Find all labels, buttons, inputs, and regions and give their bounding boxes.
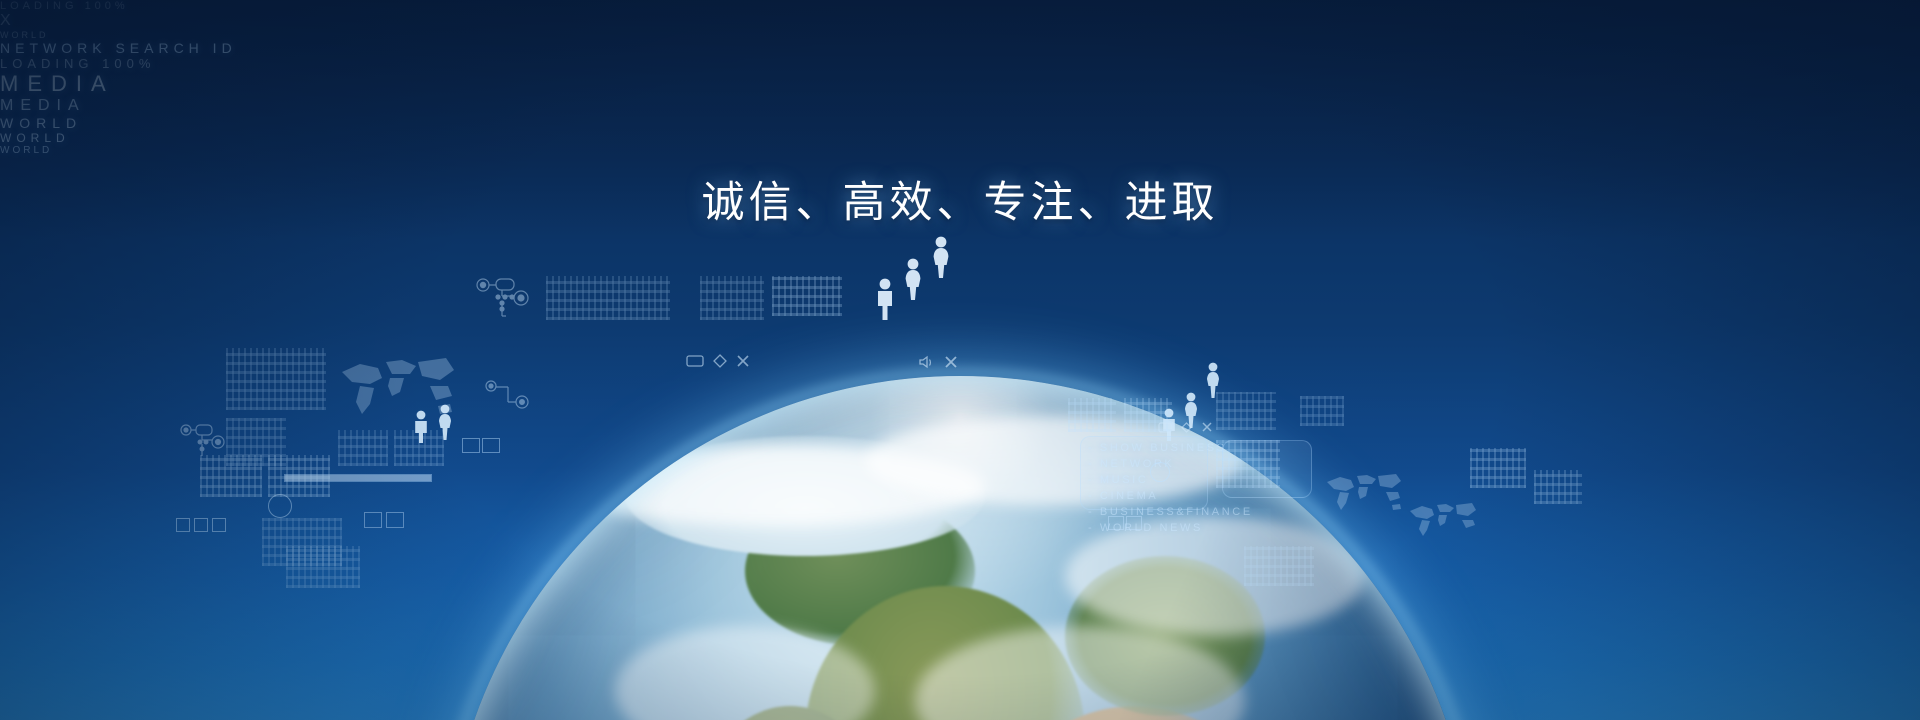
person-icon-left-2 <box>436 404 454 440</box>
loading-label-center: LOADING 100% <box>0 56 1920 71</box>
code-block-right-6 <box>1470 448 1526 488</box>
code-block-left-3 <box>200 455 262 497</box>
world-map-right <box>1320 470 1406 514</box>
code-block-bottom-left <box>286 546 360 588</box>
progress-bar-left <box>284 474 432 482</box>
small-circle-left <box>268 494 292 518</box>
code-block-right-5 <box>1300 396 1344 426</box>
world-label-right-2: WORLD <box>0 131 1920 145</box>
code-block-right-3 <box>1216 392 1276 430</box>
person-icon-center-2 <box>902 258 924 300</box>
node-graph-left <box>178 420 226 460</box>
x-symbol-left: X <box>0 12 1920 30</box>
person-icon-center-3 <box>930 236 952 278</box>
media-icons-top <box>918 354 959 370</box>
code-block-center-2 <box>700 276 764 320</box>
dot-row-left <box>176 518 226 532</box>
small-square-left-2 <box>482 438 500 453</box>
small-square-right-2 <box>1126 516 1142 530</box>
right-hud-panel[interactable] <box>1222 440 1312 498</box>
code-block-right-7 <box>1534 470 1582 504</box>
node-graph-center <box>474 276 532 322</box>
earth-globe <box>445 376 1475 720</box>
code-block-center-1 <box>546 276 670 320</box>
person-icon-center-1 <box>874 278 896 320</box>
code-block-center-3 <box>772 276 842 316</box>
media-icons-right <box>1158 421 1213 433</box>
person-icon-left <box>412 410 430 444</box>
world-label-right-3: WORLD <box>0 145 1920 156</box>
code-block-bottom-right <box>1244 546 1314 586</box>
media-label-right: MEDIA <box>0 97 1920 115</box>
small-square-left-3 <box>364 512 382 528</box>
world-map-far-right <box>1404 500 1480 540</box>
small-circle-right <box>1150 462 1170 482</box>
node-graph-center-lower <box>484 378 530 412</box>
page-title: 诚信、高效、专注、进取 <box>0 168 1920 230</box>
small-square-left-4 <box>386 512 404 528</box>
loading-label-left: LOADING 100% <box>0 0 1920 12</box>
code-block-left-5 <box>338 430 388 466</box>
small-square-left-1 <box>462 438 480 453</box>
code-block-left-1 <box>226 348 326 410</box>
media-icons-center <box>686 354 750 368</box>
media-label-top: MEDIA <box>0 71 1920 97</box>
world-label-right-1: WORLD <box>0 115 1920 131</box>
network-search-label: NETWORK SEARCH ID <box>0 40 1920 56</box>
small-square-right-1 <box>1108 516 1124 530</box>
hero-banner: 诚信、高效、专注、进取 <box>0 0 1920 720</box>
code-block-right-1 <box>1068 398 1116 432</box>
world-label-left: WORLD <box>0 30 1920 40</box>
